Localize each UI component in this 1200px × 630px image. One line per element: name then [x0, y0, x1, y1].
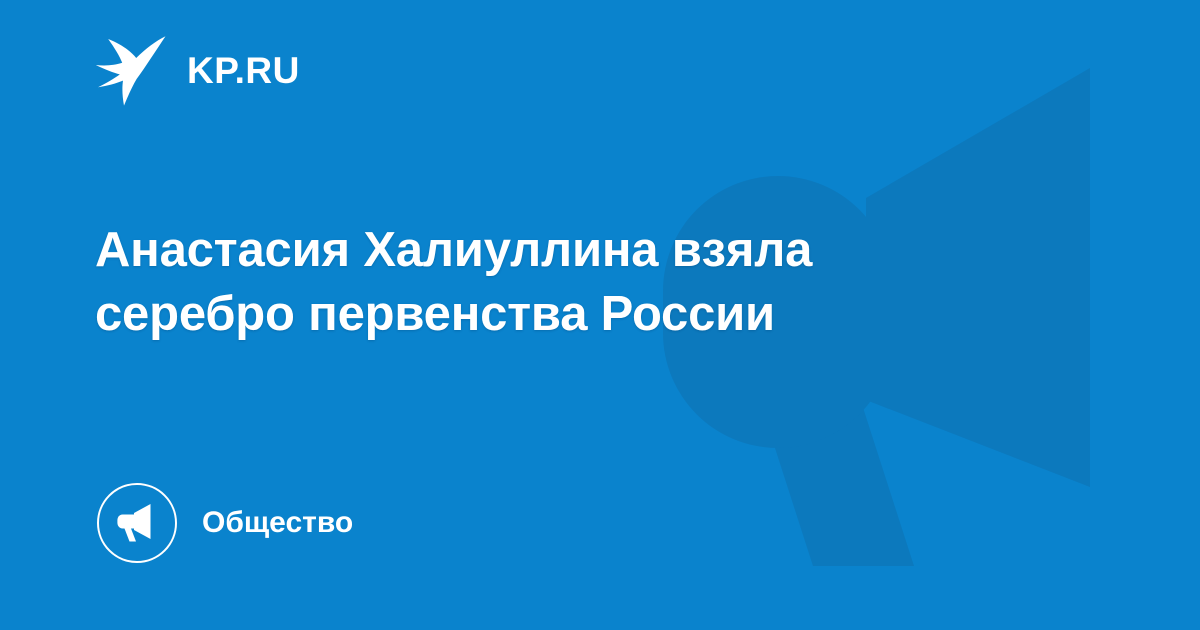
category-label: Общество — [202, 508, 353, 538]
headline-line-1: Анастасия Халиуллина взяла — [95, 218, 1095, 282]
headline-line-2: серебро первенства России — [95, 282, 1095, 346]
megaphone-icon — [114, 500, 160, 546]
category-block[interactable]: Общество — [97, 482, 353, 564]
swallow-bird-icon — [95, 34, 169, 106]
social-share-card: KP.RU Анастасия Халиуллина взяла серебро… — [0, 0, 1200, 630]
page-title: Анастасия Халиуллина взяла серебро перве… — [95, 218, 1095, 346]
category-badge — [97, 483, 177, 563]
brand-name: KP.RU — [187, 52, 300, 89]
brand-logo-block[interactable]: KP.RU — [95, 34, 300, 106]
